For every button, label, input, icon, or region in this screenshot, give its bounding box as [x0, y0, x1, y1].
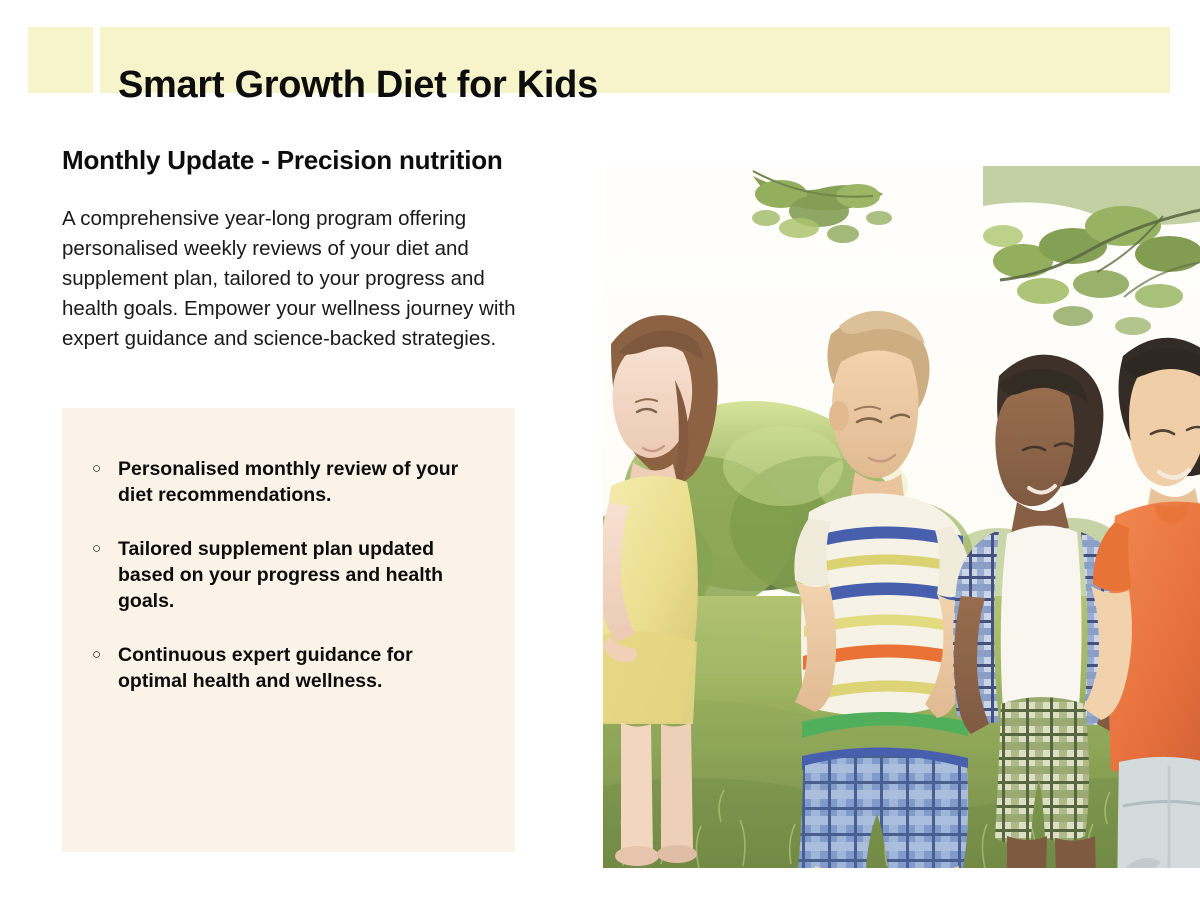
- list-item-label: Tailored supplement plan updated based o…: [118, 538, 443, 612]
- intro-paragraph: A comprehensive year-long program offeri…: [62, 204, 524, 354]
- list-item: ○ Continuous expert guidance for optimal…: [92, 642, 485, 694]
- page-header: Smart Growth Diet for Kids: [0, 0, 1200, 100]
- benefits-list: ○ Personalised monthly review of your di…: [62, 408, 515, 694]
- sunlight-haze: [603, 166, 1200, 868]
- header-accent-block: [28, 27, 93, 93]
- page-title: Smart Growth Diet for Kids: [118, 52, 598, 118]
- circle-bullet-icon: ○: [92, 536, 101, 562]
- list-item-label: Personalised monthly review of your diet…: [118, 458, 458, 506]
- list-item: ○ Personalised monthly review of your di…: [92, 456, 485, 508]
- children-playing-photo: [603, 166, 1200, 868]
- benefits-highlight-box: ○ Personalised monthly review of your di…: [62, 408, 515, 852]
- circle-bullet-icon: ○: [92, 456, 101, 482]
- list-item-label: Continuous expert guidance for optimal h…: [118, 644, 413, 692]
- section-subtitle: Monthly Update - Precision nutrition: [62, 145, 522, 176]
- circle-bullet-icon: ○: [92, 642, 101, 668]
- list-item: ○ Tailored supplement plan updated based…: [92, 536, 485, 614]
- photo-illustration: [603, 166, 1200, 868]
- left-content-column: Monthly Update - Precision nutrition A c…: [62, 145, 522, 354]
